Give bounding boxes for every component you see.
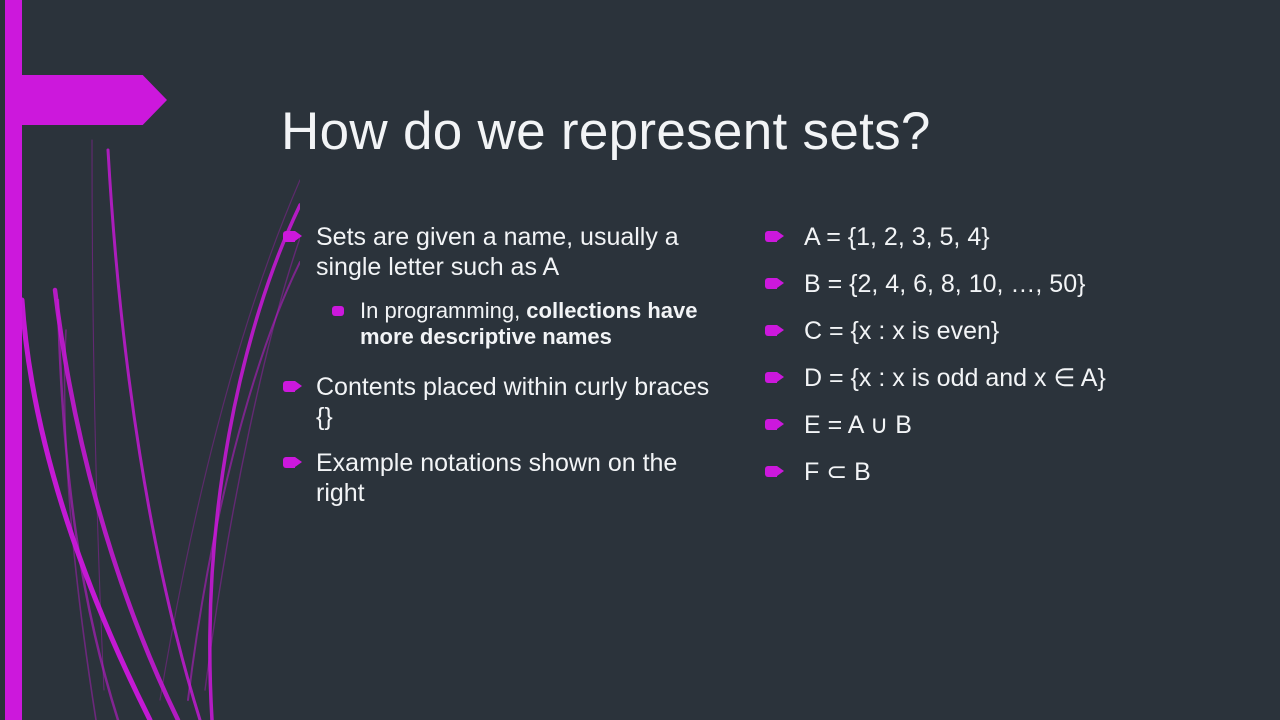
set-notation-item: A = {1, 2, 3, 5, 4}	[763, 222, 1183, 252]
accent-arrow-banner	[5, 75, 167, 125]
set-notation-text: D = {x : x is odd and x ∈ A}	[804, 364, 1106, 392]
pennant-bullet-icon	[283, 231, 295, 242]
sub-bullet-item: In programming, collections have more de…	[281, 298, 711, 350]
bullet-text: Sets are given a name, usually a single …	[316, 223, 679, 281]
set-notation-text: C = {x : x is even}	[804, 317, 999, 345]
set-notation-text: E = A ∪ B	[804, 411, 912, 439]
set-notation-item: E = A ∪ B	[763, 410, 1183, 440]
pennant-bullet-icon	[765, 466, 777, 477]
set-notation-text: B = {2, 4, 6, 8, 10, …, 50}	[804, 270, 1085, 298]
pennant-bullet-icon	[283, 381, 295, 392]
pennant-sub-bullet-icon	[332, 306, 344, 316]
accent-vertical-bar	[5, 0, 22, 720]
left-content-column: Sets are given a name, usually a single …	[281, 222, 711, 524]
pennant-bullet-icon	[283, 457, 295, 468]
set-notation-item: D = {x : x is odd and x ∈ A}	[763, 363, 1183, 393]
slide: How do we represent sets? Sets are given…	[0, 0, 1280, 720]
pennant-bullet-icon	[765, 231, 777, 242]
bullet-text: Contents placed within curly braces {}	[316, 373, 709, 431]
right-content-column: A = {1, 2, 3, 5, 4} B = {2, 4, 6, 8, 10,…	[763, 222, 1183, 504]
pennant-bullet-icon	[765, 372, 777, 383]
pennant-bullet-icon	[765, 419, 777, 430]
bullet-text: Example notations shown on the right	[316, 449, 677, 507]
set-notation-item: F ⊂ B	[763, 457, 1183, 487]
set-notation-text: F ⊂ B	[804, 458, 871, 486]
slide-title: How do we represent sets?	[281, 101, 931, 162]
bullet-item: Sets are given a name, usually a single …	[281, 222, 711, 282]
sub-bullet-lead-text: In programming,	[360, 298, 526, 323]
bullet-item: Example notations shown on the right	[281, 448, 711, 508]
swoosh-lines-decoration	[0, 0, 300, 720]
decorative-left-graphic	[0, 0, 300, 720]
pennant-bullet-icon	[765, 278, 777, 289]
set-notation-item: B = {2, 4, 6, 8, 10, …, 50}	[763, 269, 1183, 299]
set-notation-item: C = {x : x is even}	[763, 316, 1183, 346]
pennant-bullet-icon	[765, 325, 777, 336]
bullet-item: Contents placed within curly braces {}	[281, 372, 711, 432]
set-notation-text: A = {1, 2, 3, 5, 4}	[804, 223, 990, 251]
